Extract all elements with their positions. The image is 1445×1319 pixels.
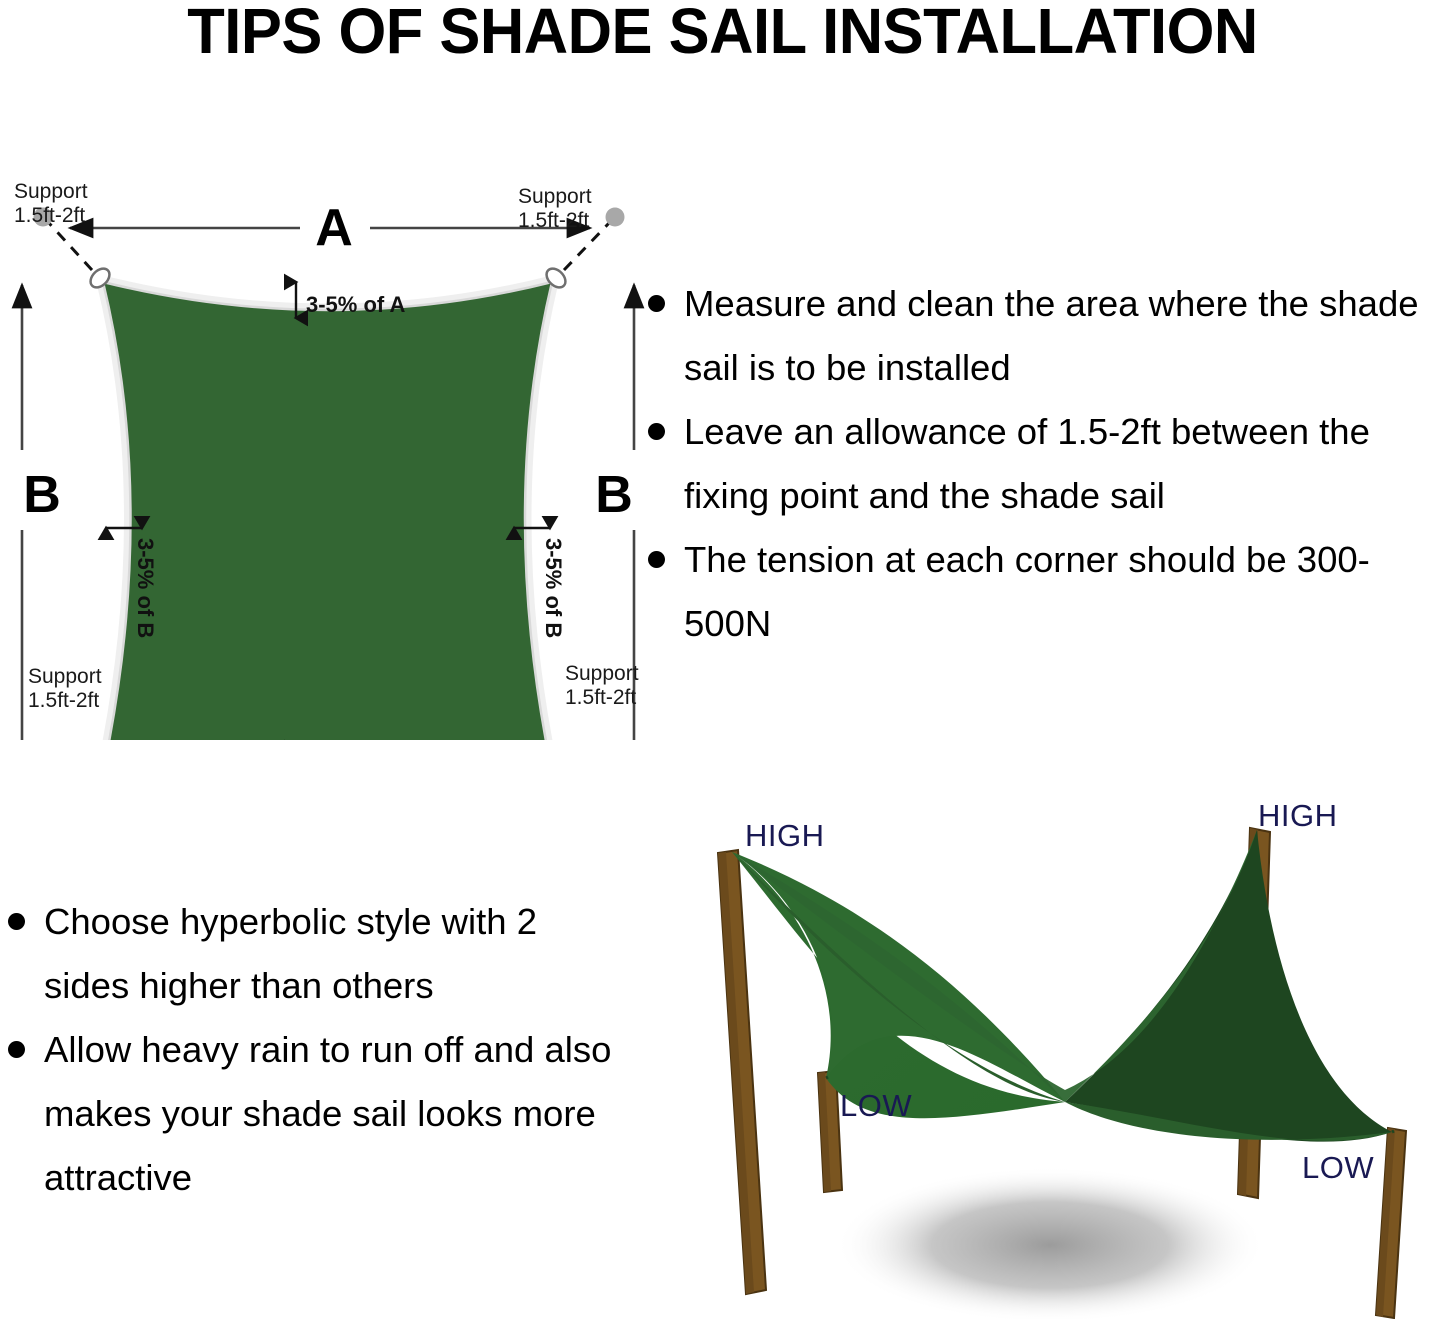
label-high-left: HIGH <box>745 818 825 854</box>
hyper-diagram-svg <box>650 790 1445 1319</box>
bullet-dot-icon <box>648 295 665 312</box>
support-label-top-right: Support 1.5ft-2ft <box>518 185 592 232</box>
label-b-left: B <box>23 466 61 524</box>
post-low-right <box>1376 1128 1406 1318</box>
bullet-dot-icon <box>648 423 665 440</box>
support-label-top-left: Support 1.5ft-2ft <box>14 180 88 227</box>
dimension-a-top: A <box>70 199 590 257</box>
list-item-text: Leave an allowance of 1.5-2ft between th… <box>684 411 1370 516</box>
label-curve-right: 3-5% of B <box>541 538 566 638</box>
rect-diagram-svg: A A B B 3-5% of A 3-5% of A <box>0 160 660 740</box>
list-item-text: Measure and clean the area where the sha… <box>684 283 1419 388</box>
tips-list-installation: Measure and clean the area where the sha… <box>640 272 1445 656</box>
label-b-right: B <box>595 466 633 524</box>
list-item-text: Allow heavy rain to run off and also mak… <box>44 1029 611 1198</box>
label-low-right: LOW <box>1302 1150 1374 1186</box>
label-curve-top: 3-5% of A <box>306 292 406 317</box>
support-label-line1: Support <box>28 665 102 689</box>
support-label-line2: 1.5ft-2ft <box>565 686 639 710</box>
curve-allowance-top: 3-5% of A <box>296 282 406 318</box>
support-label-line2: 1.5ft-2ft <box>14 204 88 228</box>
sail-shape <box>103 282 552 740</box>
list-item: Measure and clean the area where the sha… <box>640 272 1445 400</box>
list-item: Leave an allowance of 1.5-2ft between th… <box>640 400 1445 528</box>
support-label-bottom-left: Support 1.5ft-2ft <box>28 665 102 712</box>
tips-list-hyperbolic: Choose hyperbolic style with 2 sides hig… <box>0 890 620 1210</box>
support-label-line1: Support <box>518 185 592 209</box>
support-label-line2: 1.5ft-2ft <box>518 209 592 233</box>
support-label-line2: 1.5ft-2ft <box>28 689 102 713</box>
support-label-line1: Support <box>565 662 639 686</box>
page-title: TIPS OF SHADE SAIL INSTALLATION <box>29 0 1416 68</box>
label-a-top: A <box>315 199 353 257</box>
label-high-right: HIGH <box>1258 798 1338 834</box>
support-dot-top-right <box>606 208 625 227</box>
bullet-dot-icon <box>8 913 25 930</box>
list-item: Allow heavy rain to run off and also mak… <box>0 1018 620 1210</box>
hyperbolic-sail-diagram: HIGH HIGH LOW LOW <box>650 790 1445 1319</box>
sail-wing-right-lower <box>1065 830 1392 1142</box>
ground-shadow <box>835 1167 1265 1319</box>
list-item-text: Choose hyperbolic style with 2 sides hig… <box>44 901 537 1006</box>
list-item: The tension at each corner should be 300… <box>640 528 1445 656</box>
post-high-left <box>718 850 766 1294</box>
bullet-dot-icon <box>8 1041 25 1058</box>
support-label-bottom-right: Support 1.5ft-2ft <box>565 662 639 709</box>
label-low-left: LOW <box>840 1088 912 1124</box>
rectangular-sail-diagram: A A B B 3-5% of A 3-5% of A <box>0 160 660 740</box>
list-item-text: The tension at each corner should be 300… <box>684 539 1370 644</box>
bullet-dot-icon <box>648 551 665 568</box>
support-label-line1: Support <box>14 180 88 204</box>
label-curve-left: 3-5% of B <box>133 538 158 638</box>
list-item: Choose hyperbolic style with 2 sides hig… <box>0 890 620 1018</box>
